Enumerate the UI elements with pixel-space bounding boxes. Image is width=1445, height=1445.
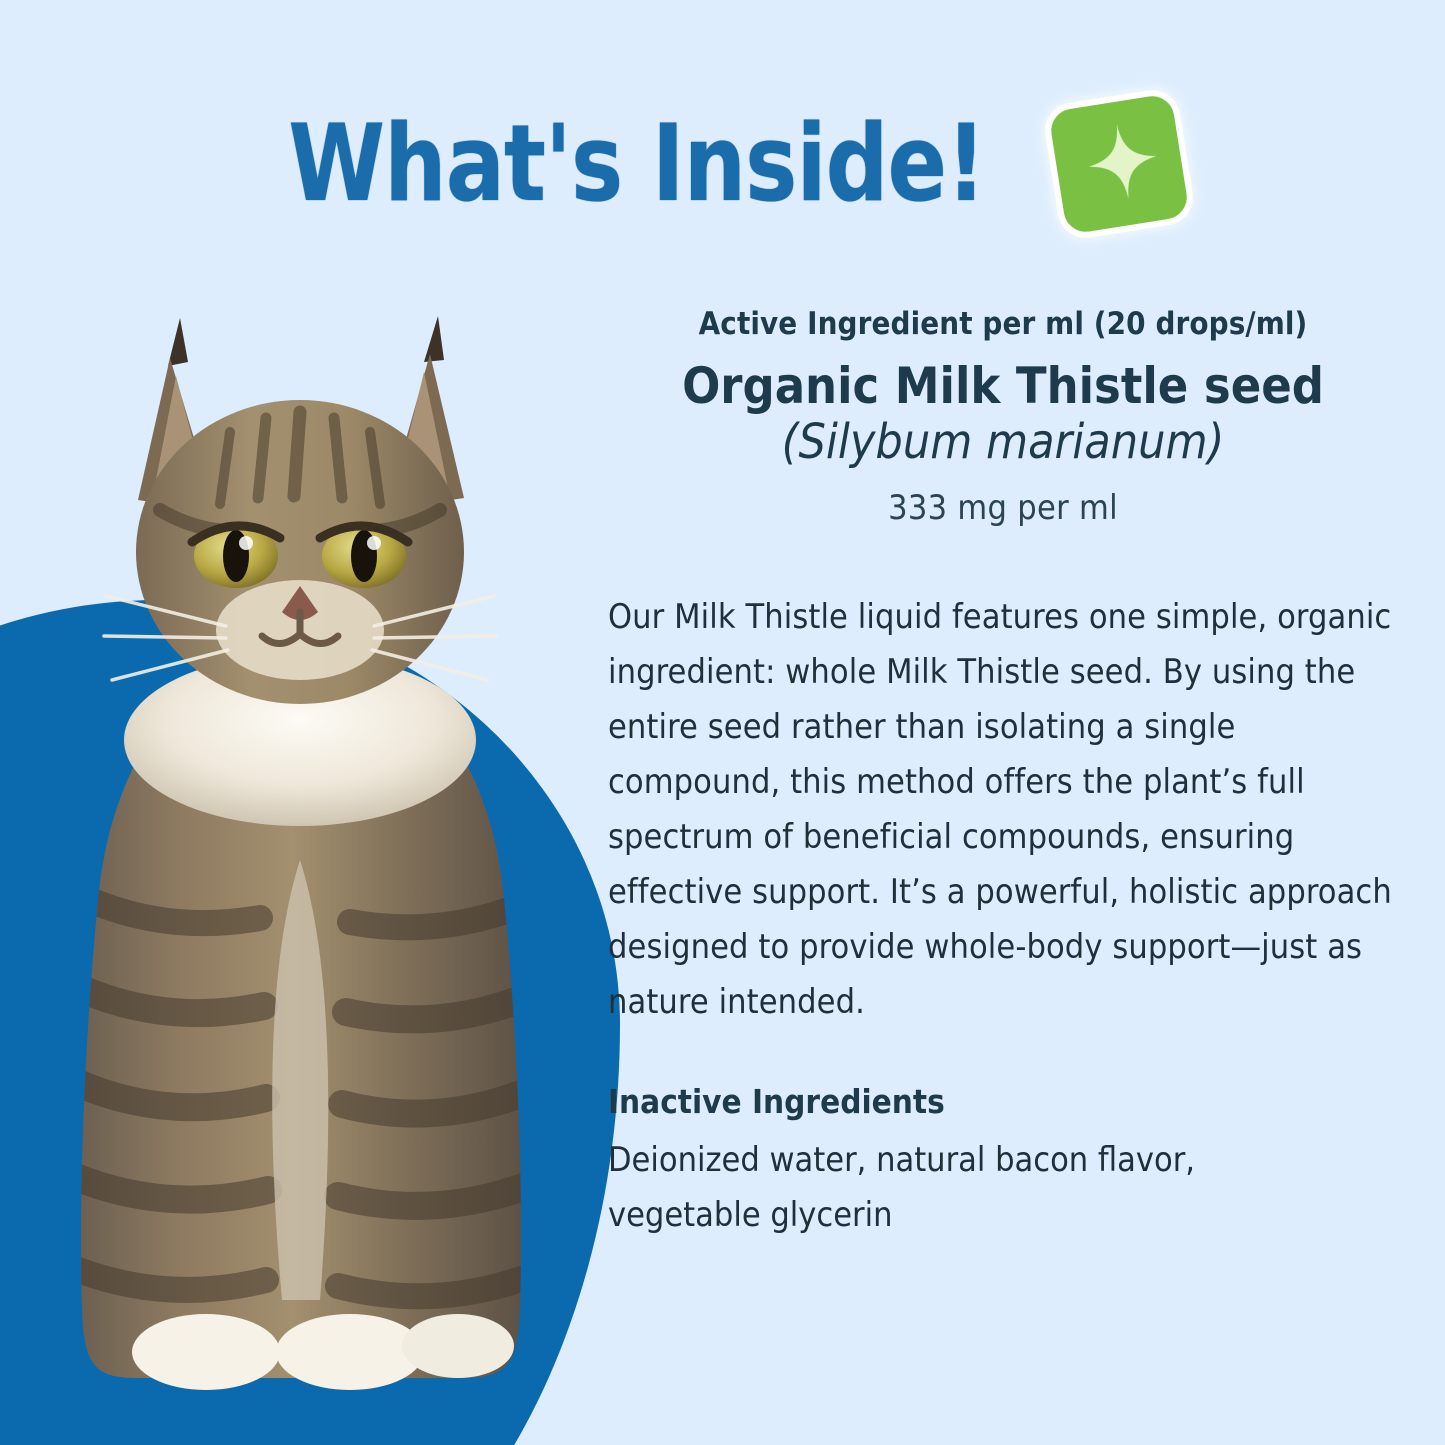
ingredients-panel: Active Ingredient per ml (20 drops/ml) O… <box>608 306 1398 1244</box>
inactive-ingredients-label: Inactive Ingredients <box>608 1082 1398 1121</box>
sparkle-star-icon <box>1041 86 1197 242</box>
header: What's Inside! <box>0 96 1445 232</box>
active-ingredient-label: Active Ingredient per ml (20 drops/ml) <box>608 306 1398 342</box>
page-title: What's Inside! <box>288 111 985 217</box>
infographic-canvas: What's Inside! <box>0 0 1445 1445</box>
cat-photo <box>20 300 580 1430</box>
active-ingredient-name: Organic Milk Thistle seed <box>608 358 1398 414</box>
cat-paws <box>132 1314 514 1390</box>
active-ingredient-latin-name: (Silybum marianum) <box>608 416 1398 470</box>
sparkle-badge-icon <box>1041 86 1197 242</box>
cat-ear-tufts <box>168 316 444 366</box>
product-description: Our Milk Thistle liquid features one sim… <box>608 590 1398 1031</box>
inactive-ingredients-list: Deionized water, natural bacon flavor, v… <box>608 1133 1268 1243</box>
active-ingredient-dose: 333 mg per ml <box>608 488 1398 528</box>
